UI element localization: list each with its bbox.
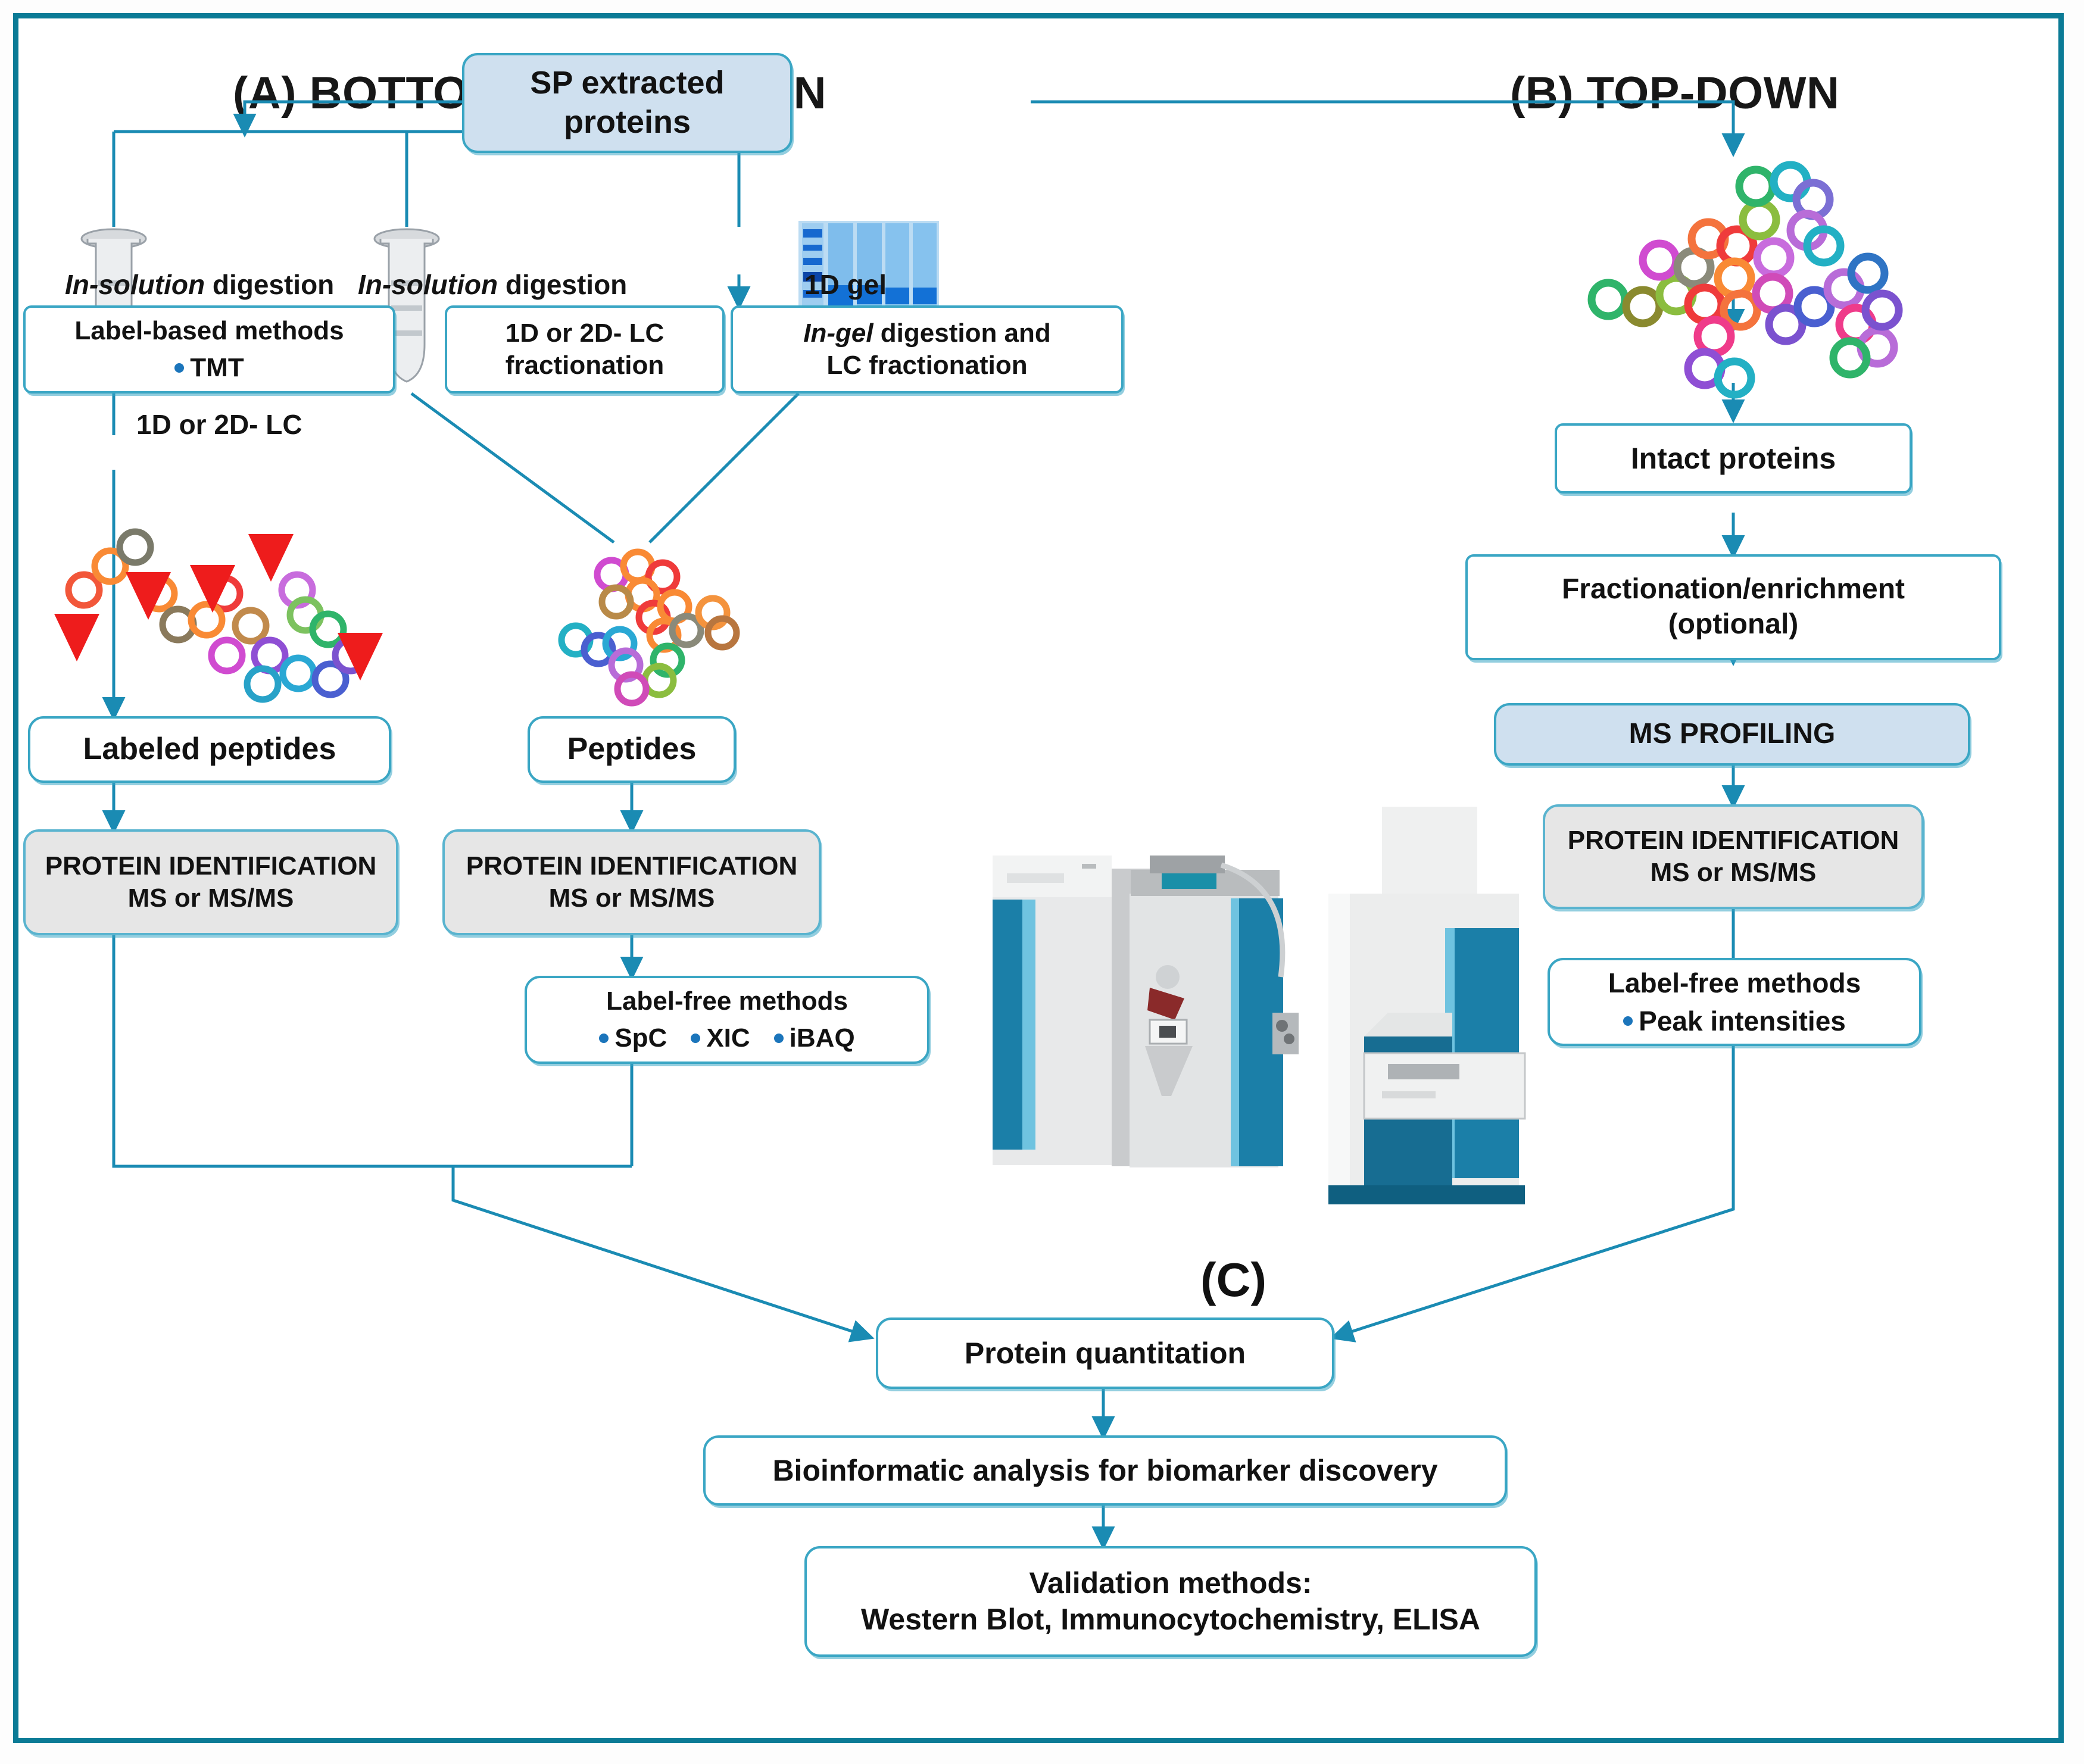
protein-id-line2-right: MS or MS/MS	[1651, 857, 1817, 889]
protein-identification-box-middle[interactable]: PROTEIN IDENTIFICATION MS or MS/MS	[442, 829, 821, 935]
bullet-dot-icon	[174, 363, 184, 373]
digestion-rest-middle: digestion	[498, 269, 627, 300]
bullet-dot-icon	[599, 1034, 609, 1043]
label-based-methods-title: Label-based methods	[74, 315, 344, 347]
bioinformatic-analysis-box[interactable]: Bioinformatic analysis for biomarker dis…	[703, 1435, 1507, 1506]
peptides-graphic	[536, 548, 775, 727]
bullet-ibaq-label: iBAQ	[790, 1022, 855, 1054]
sp-proteins-line1: SP extracted	[530, 64, 724, 103]
ms-profiling-label: MS PROFILING	[1629, 717, 1836, 752]
peptides-box[interactable]: Peptides	[528, 716, 736, 783]
bullet-xic-label: XIC	[706, 1022, 750, 1054]
protein-id-line2-middle: MS or MS/MS	[549, 882, 715, 914]
figure-canvas: (A) BOTTOM-UP/SHOTGUN (B) TOP-DOWN (C)	[0, 0, 2084, 1764]
bullet-spc-label: SpC	[614, 1022, 667, 1054]
fractionation-line2: (optional)	[1668, 607, 1799, 642]
in-solution-italic-middle: In-solution	[358, 269, 498, 300]
in-gel-line2: LC fractionation	[826, 349, 1027, 382]
peptides-label: Peptides	[567, 730, 697, 768]
in-gel-rest: digestion and	[873, 319, 1051, 348]
protein-identification-box-right[interactable]: PROTEIN IDENTIFICATION MS or MS/MS	[1543, 804, 1924, 909]
in-solution-digestion-label-left: In-solution digestion	[65, 268, 334, 301]
intact-proteins-label: Intact proteins	[1631, 441, 1836, 477]
intact-proteins-box[interactable]: Intact proteins	[1555, 423, 1912, 494]
labeled-peptides-label: Labeled peptides	[83, 730, 336, 768]
digestion-rest-left: digestion	[205, 269, 334, 300]
in-solution-italic-left: In-solution	[65, 269, 205, 300]
fractionation-enrichment-box[interactable]: Fractionation/enrichment (optional)	[1465, 554, 2001, 660]
in-gel-digestion-box[interactable]: In-gel digestion and LC fractionation	[731, 305, 1124, 394]
bullet-xic: XIC	[691, 1022, 750, 1054]
bullet-peak-intensities-label: Peak intensities	[1639, 1004, 1846, 1038]
figure-frame: (A) BOTTOM-UP/SHOTGUN (B) TOP-DOWN (C)	[13, 13, 2064, 1743]
lc-fractionation-box[interactable]: 1D or 2D- LC fractionation	[445, 305, 725, 394]
bullet-tmt-label: TMT	[190, 352, 244, 384]
label-free-title-right: Label-free methods	[1608, 966, 1861, 1000]
protein-id-line2-left: MS or MS/MS	[128, 882, 294, 914]
labeled-peptides-box[interactable]: Labeled peptides	[28, 716, 391, 783]
lc-fractionation-line2: fractionation	[506, 349, 664, 382]
label-free-methods-box-right[interactable]: Label-free methods Peak intensities	[1548, 958, 1921, 1046]
label-based-methods-box[interactable]: Label-based methods TMT	[23, 305, 395, 394]
bullet-peak-intensities: Peak intensities	[1623, 1004, 1846, 1038]
bioinformatic-analysis-label: Bioinformatic analysis for biomarker dis…	[772, 1453, 1437, 1489]
label-free-title-middle: Label-free methods	[606, 985, 848, 1017]
sp-extracted-proteins-box[interactable]: SP extracted proteins	[462, 53, 793, 153]
bullet-ibaq: iBAQ	[774, 1022, 855, 1054]
lc-fractionation-line1: 1D or 2D- LC	[506, 317, 664, 349]
validation-line2: Western Blot, Immunocytochemistry, ELISA	[861, 1601, 1480, 1638]
ms-profiling-box[interactable]: MS PROFILING	[1494, 703, 1970, 766]
bullet-tmt: TMT	[174, 352, 244, 384]
fractionation-line1: Fractionation/enrichment	[1562, 572, 1905, 607]
validation-methods-box[interactable]: Validation methods: Western Blot, Immuno…	[804, 1546, 1537, 1657]
labeled-peptides-graphic	[48, 477, 417, 715]
bullet-dot-icon	[774, 1034, 784, 1043]
protein-id-line1-right: PROTEIN IDENTIFICATION	[1568, 825, 1899, 857]
protein-id-line1-middle: PROTEIN IDENTIFICATION	[466, 850, 798, 882]
protein-quantitation-box[interactable]: Protein quantitation	[876, 1317, 1334, 1389]
mass-spectrometer-instruments-image	[971, 798, 1555, 1251]
in-solution-digestion-label-middle: In-solution digestion	[358, 268, 627, 301]
label-free-methods-box-middle[interactable]: Label-free methods SpC XIC iBAQ	[525, 976, 929, 1064]
protein-identification-box-left[interactable]: PROTEIN IDENTIFICATION MS or MS/MS	[23, 829, 398, 935]
bullet-spc: SpC	[599, 1022, 667, 1054]
sp-proteins-line2: proteins	[564, 103, 691, 142]
panel-b-title: (B) TOP-DOWN	[1510, 67, 1839, 119]
in-gel-italic: In-gel	[803, 319, 873, 348]
1d-gel-label: 1D gel	[804, 268, 887, 301]
bullet-dot-icon	[691, 1034, 700, 1043]
1d-2d-lc-label: 1D or 2D- LC	[136, 408, 302, 441]
protein-id-line1-left: PROTEIN IDENTIFICATION	[45, 850, 377, 882]
intact-protein-graphic	[1567, 151, 1912, 401]
validation-line1: Validation methods:	[1029, 1565, 1312, 1601]
panel-c-title: (C)	[1200, 1253, 1266, 1307]
protein-quantitation-label: Protein quantitation	[965, 1335, 1246, 1372]
bullet-dot-icon	[1623, 1016, 1633, 1026]
in-gel-line1: In-gel digestion and	[803, 317, 1051, 349]
